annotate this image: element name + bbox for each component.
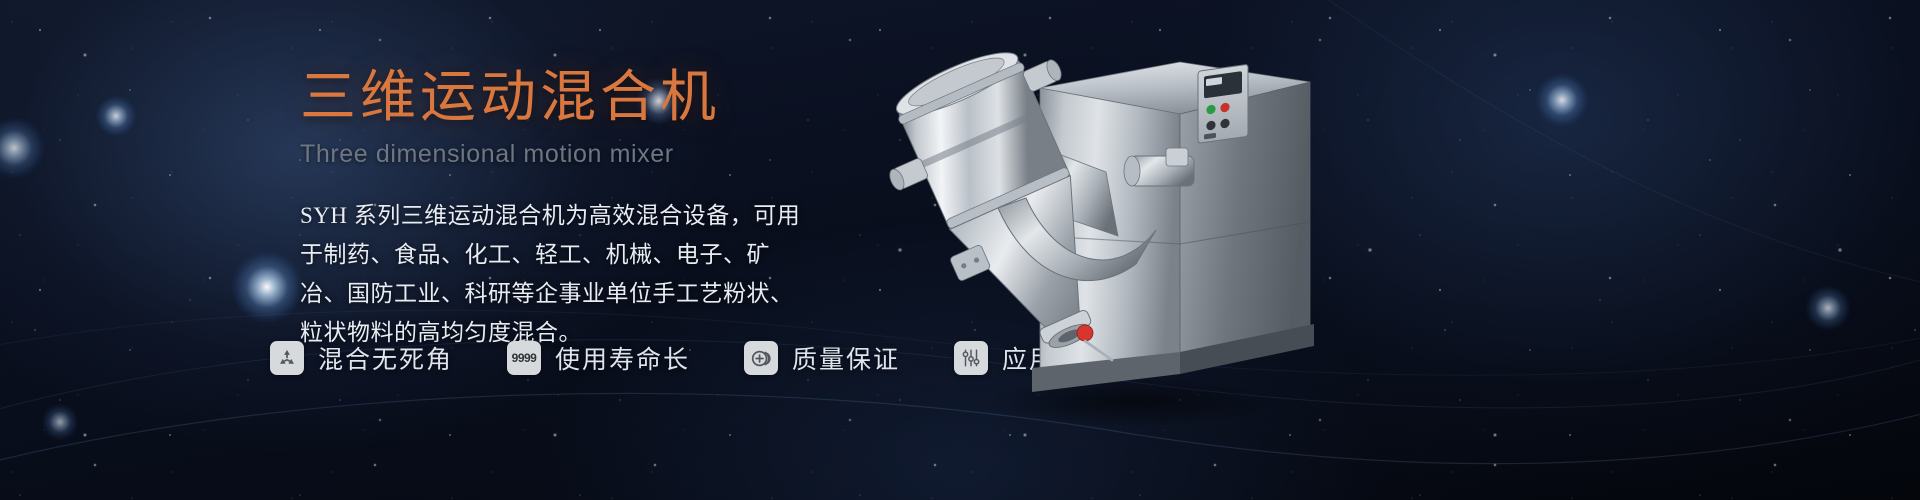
feature-label: 混合无死角 xyxy=(318,340,453,376)
feature-item-quality-guarantee[interactable]: 质量保证 xyxy=(744,340,900,376)
glow-star-bottom-right xyxy=(1806,286,1850,330)
glow-star-far-left xyxy=(0,118,44,178)
feature-item-no-dead-angle[interactable]: 混合无死角 xyxy=(270,340,453,376)
glow-star-right xyxy=(1536,74,1588,126)
lifespan-counter-icon: 9999 xyxy=(507,341,541,375)
product-description: SYH 系列三维运动混合机为高效混合设备，可用于制药、食品、化工、轻工、机械、电… xyxy=(300,196,810,352)
feature-label: 使用寿命长 xyxy=(555,340,690,376)
three-dimensional-motion-mixer-photo xyxy=(880,30,1340,430)
glow-star-upper-left xyxy=(96,96,136,136)
feature-item-long-lifespan[interactable]: 9999 使用寿命长 xyxy=(507,340,690,376)
page-subtitle: Three dimensional motion mixer xyxy=(300,140,920,169)
product-hero-banner: 三维运动混合机 Three dimensional motion mixer S… xyxy=(0,0,1920,500)
recycle-icon xyxy=(270,341,304,375)
quality-coin-icon xyxy=(744,341,778,375)
page-title: 三维运动混合机 xyxy=(300,66,920,130)
hero-text-block: 三维运动混合机 Three dimensional motion mixer S… xyxy=(300,66,920,352)
counter-value: 9999 xyxy=(512,351,537,365)
glow-star-bottom-left xyxy=(42,404,78,440)
glow-star-left xyxy=(232,252,302,322)
